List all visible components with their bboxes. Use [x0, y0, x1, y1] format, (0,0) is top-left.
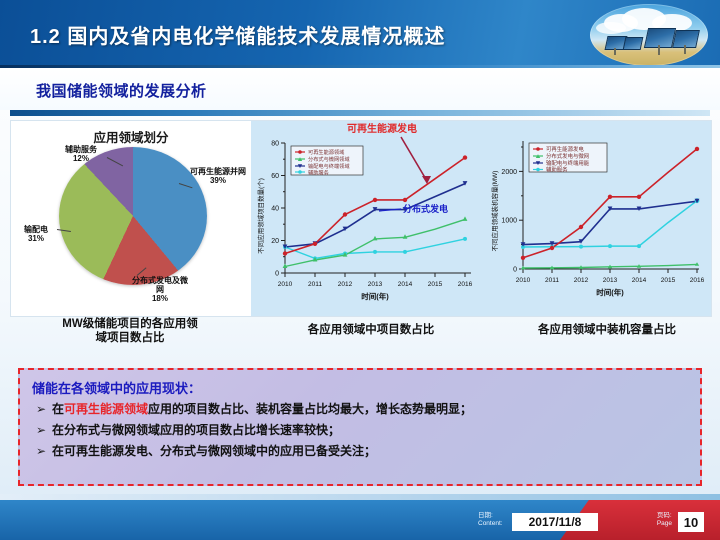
- annotation-renewable-label: 可再生能源发电: [347, 122, 417, 135]
- svg-text:2011: 2011: [545, 277, 559, 284]
- svg-text:20: 20: [271, 238, 279, 245]
- svg-text:60: 60: [271, 173, 279, 180]
- svg-text:不同应用领域装机容量(MW): 不同应用领域装机容量(MW): [490, 171, 499, 252]
- page-title: 1.2 国内及省内电化学储能技术发展情况概述: [30, 20, 445, 49]
- svg-text:1000: 1000: [501, 218, 517, 225]
- annotation-distributed-label: 分布式发电: [403, 203, 448, 214]
- svg-text:2014: 2014: [632, 277, 647, 284]
- svg-text:输配电与终端用能: 输配电与终端用能: [546, 159, 590, 167]
- svg-text:时间(年): 时间(年): [596, 287, 624, 297]
- footer: 日期:Content: 2017/11/8 页码:Page 10: [0, 500, 720, 540]
- pie-label-renewable: 可再生能源并网39%: [189, 167, 247, 185]
- svg-text:2012: 2012: [338, 281, 353, 288]
- header-banner: 1.2 国内及省内电化学储能技术发展情况概述: [0, 0, 720, 68]
- line-chart-capacity: 010002000 201020112012 201320142015 2016…: [483, 121, 711, 316]
- svg-text:不同应用领域项目数量(个): 不同应用领域项目数量(个): [256, 178, 265, 254]
- caption-projects: 各应用领域中项目数占比: [258, 323, 484, 337]
- conclusion-title: 储能在各领域中的应用现状：: [32, 378, 690, 397]
- caption-pie: MW级储能项目的各应用领域项目数占比: [18, 317, 242, 346]
- svg-text:80: 80: [271, 141, 279, 148]
- section-subtitle: 我国储能领域的发展分析: [36, 80, 207, 101]
- svg-text:可再生能源领域: 可再生能源领域: [308, 148, 344, 156]
- page-label: 页码:Page: [657, 512, 672, 528]
- line-chart-projects-svg: 020 406080 201020112012 201320142015 201…: [251, 121, 483, 316]
- date-value: 2017/11/8: [512, 513, 598, 531]
- pie-label-ancillary: 辅助服务12%: [53, 145, 109, 163]
- svg-text:分布式与微网领域: 分布式与微网领域: [308, 155, 350, 163]
- svg-text:辅助服务: 辅助服务: [546, 166, 568, 174]
- bullet-1-text: 在可再生能源领域应用的项目数占比、装机容量占比均最大，增长态势最明显；: [52, 401, 472, 417]
- bullet-arrow-icon: ➢: [30, 401, 52, 417]
- svg-text:2016: 2016: [458, 281, 473, 288]
- bullet-arrow-icon: ➢: [30, 443, 52, 459]
- svg-text:2010: 2010: [516, 277, 531, 284]
- svg-text:2010: 2010: [278, 281, 293, 288]
- chart-captions: MW级储能项目的各应用领域项目数占比 各应用领域中项目数占比 各应用领域中装机容…: [10, 317, 710, 357]
- svg-text:2016: 2016: [690, 277, 705, 284]
- svg-text:分布式发电与微网: 分布式发电与微网: [546, 152, 589, 160]
- svg-text:2013: 2013: [368, 281, 383, 288]
- svg-text:0: 0: [513, 267, 517, 274]
- bullet-3-text: 在可再生能源发电、分布式与微网领域中的应用已备受关注；: [52, 443, 376, 459]
- caption-capacity: 各应用领域中装机容量占比: [496, 323, 718, 337]
- bullet-2-text: 在分布式与微网领域应用的项目数占比增长速率较快；: [52, 422, 340, 438]
- conclusion-bullet-3: ➢ 在可再生能源发电、分布式与微网领域中的应用已备受关注；: [30, 443, 690, 459]
- pie-chart: 应用领域划分 可再生能源并网39% 分布式发电及微网18% 输配电31% 辅助服…: [11, 121, 251, 316]
- svg-text:2011: 2011: [308, 281, 322, 288]
- svg-text:2013: 2013: [603, 277, 618, 284]
- conclusion-box: 储能在各领域中的应用现状： ➢ 在可再生能源领域应用的项目数占比、装机容量占比均…: [18, 368, 702, 486]
- svg-text:40: 40: [271, 206, 279, 213]
- date-label: 日期:Content:: [478, 512, 503, 528]
- line-chart-capacity-svg: 010002000 201020112012 201320142015 2016…: [483, 121, 711, 316]
- svg-text:辅助服务: 辅助服务: [308, 169, 329, 177]
- slide: 1.2 国内及省内电化学储能技术发展情况概述 我国储能领域的发展分析 应用领域划…: [0, 0, 720, 540]
- pie-chart-title: 应用领域划分: [11, 127, 251, 146]
- svg-text:输配电与终端领域: 输配电与终端领域: [308, 162, 350, 170]
- solar-panel-photo: [590, 4, 708, 66]
- conclusion-bullet-1: ➢ 在可再生能源领域应用的项目数占比、装机容量占比均最大，增长态势最明显；: [30, 401, 690, 417]
- conclusion-bullet-2: ➢ 在分布式与微网领域应用的项目数占比增长速率较快；: [30, 422, 690, 438]
- pie-label-distributed: 分布式发电及微网18%: [129, 276, 191, 304]
- svg-text:2000: 2000: [501, 169, 517, 176]
- page-number: 10: [678, 512, 704, 532]
- svg-text:0: 0: [275, 271, 279, 278]
- pie-graphic: [59, 147, 207, 285]
- line-chart-projects: 020 406080 201020112012 201320142015 201…: [251, 121, 483, 316]
- bullet-arrow-icon: ➢: [30, 422, 52, 438]
- charts-panel: 应用领域划分 可再生能源并网39% 分布式发电及微网18% 输配电31% 辅助服…: [10, 120, 712, 317]
- svg-text:2015: 2015: [661, 277, 676, 284]
- pie-label-transmission: 输配电31%: [13, 225, 59, 243]
- svg-text:2012: 2012: [574, 277, 589, 284]
- svg-text:2014: 2014: [398, 281, 413, 288]
- divider-rule: [10, 110, 710, 116]
- svg-text:2015: 2015: [428, 281, 443, 288]
- svg-text:可再生能源发电: 可再生能源发电: [546, 145, 584, 153]
- svg-text:时间(年): 时间(年): [361, 291, 389, 301]
